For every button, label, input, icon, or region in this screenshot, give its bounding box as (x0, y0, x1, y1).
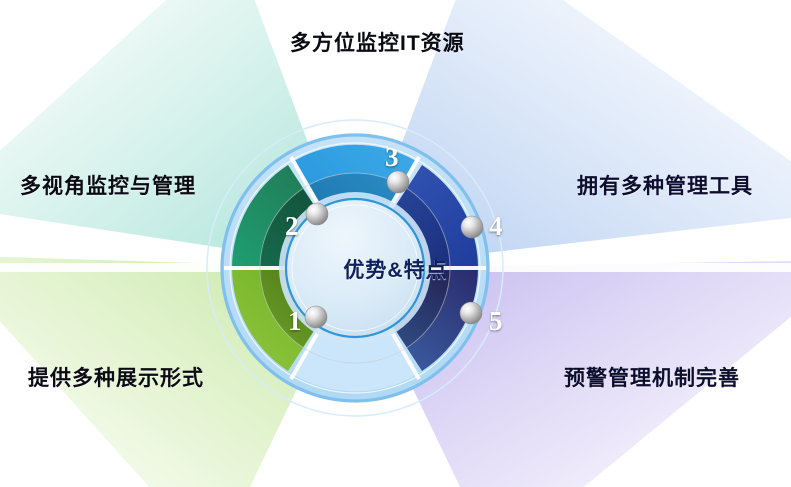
marker-5[interactable] (460, 302, 482, 324)
marker-4[interactable] (461, 216, 483, 238)
marker-1[interactable] (305, 306, 327, 328)
label-left-top: 多视角监控与管理 (20, 170, 196, 200)
label-right-top: 拥有多种管理工具 (577, 170, 753, 200)
label-right-bottom: 预警管理机制完善 (564, 362, 740, 392)
label-top: 多方位监控IT资源 (290, 27, 465, 57)
center-label: 优势&特点 (0, 254, 791, 284)
label-left-bottom: 提供多种展示形式 (28, 362, 204, 392)
infographic-canvas: 1 2 3 4 5 优势&特点 多方位监控IT资源 多视角监控与管理 提供多种展… (0, 0, 791, 487)
marker-2[interactable] (306, 203, 328, 225)
marker-3[interactable] (387, 171, 409, 193)
donut-ring-layer (0, 0, 791, 487)
